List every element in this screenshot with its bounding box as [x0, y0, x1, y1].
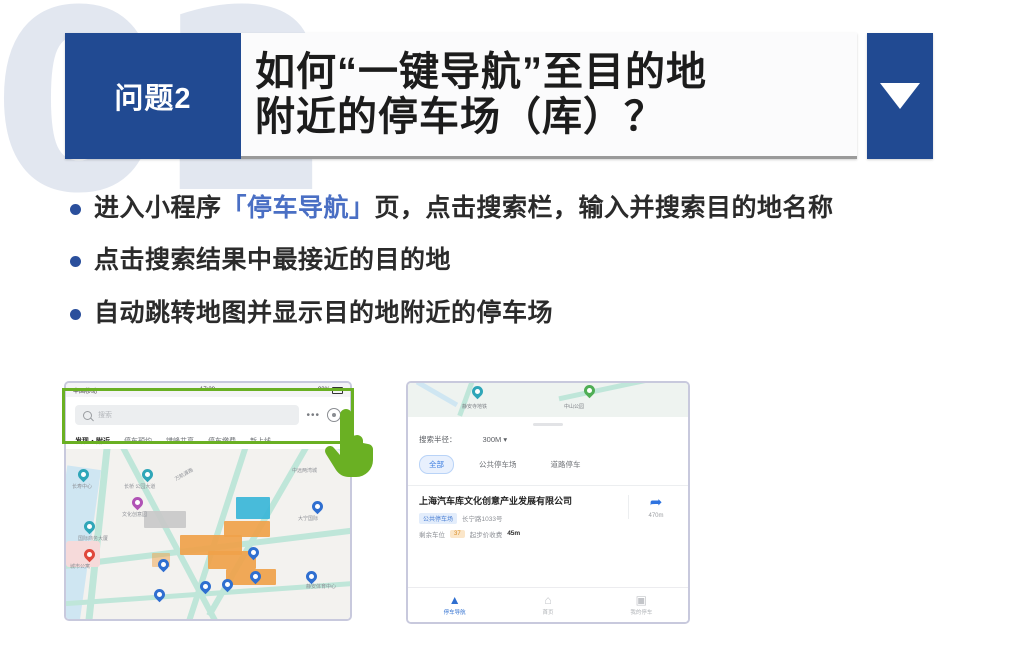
map-label: 中山公园: [564, 403, 584, 410]
parking-nav-icon: ▲: [449, 594, 461, 606]
chevron-down-icon: [880, 83, 920, 109]
navigate-button[interactable]: ➦ 470m: [628, 495, 677, 519]
nav-label: 我的停车: [630, 608, 652, 616]
bullet-dot-icon: [70, 256, 81, 267]
result-meta-row-2: 剩余车位 37 起步价收费 45m: [419, 529, 620, 539]
map-label: 静安体育中心: [306, 583, 336, 590]
nav-item-my-parking[interactable]: ▣ 我的停车: [595, 594, 688, 616]
home-icon: ⌂: [544, 594, 551, 606]
radius-value: 300M: [483, 435, 502, 444]
nav-label: 首页: [542, 608, 553, 616]
result-card-main: 上海汽车库文化创意产业发展有限公司 公共停车场 长宁路1033号 剩余车位 37…: [419, 495, 620, 539]
spaces-label: 剩余车位: [419, 529, 445, 539]
map-label: 中远两湾城: [292, 467, 317, 474]
nav-label: 停车导航: [444, 608, 466, 616]
result-title: 上海汽车库文化创意产业发展有限公司: [419, 495, 620, 508]
my-parking-icon: ▣: [636, 594, 647, 606]
screenshot-right-phone: 静安寺地铁 中山公园 搜索半径： 300M ▾ 全部 公共停车场 道路停车 上海…: [406, 381, 690, 624]
bullet-dot-icon: [70, 204, 81, 215]
chevron-down-icon: ▾: [503, 435, 507, 444]
price-label: 起步价收费: [470, 529, 503, 539]
list-item: 自动跳转地图并显示目的地附近的停车场: [70, 298, 1010, 329]
radius-row: 搜索半径： 300M ▾: [419, 434, 677, 445]
nav-item-parking[interactable]: ▲ 停车导航: [408, 594, 501, 616]
radius-label: 搜索半径：: [419, 434, 457, 445]
map-label: 国际商务大厦: [78, 535, 108, 542]
result-address: 长宁路1033号: [462, 513, 502, 523]
map-pin[interactable]: [130, 495, 146, 511]
list-item: 点击搜索结果中最接近的目的地: [70, 245, 1010, 276]
list-item: 进入小程序「停车导航」页，点击搜索栏，输入并搜索目的地名称: [70, 193, 1010, 224]
chip-street-parking[interactable]: 道路停车: [542, 456, 590, 473]
section-title: 如何“一键导航”至目的地 附近的停车场（库）？: [241, 33, 857, 159]
price-value: 45m: [507, 530, 520, 537]
map-strip[interactable]: 静安寺地铁 中山公园: [408, 383, 688, 417]
slide-canvas: 02 问题2 如何“一键导航”至目的地 附近的停车场（库）？ 进入小程序「停车导…: [0, 0, 1028, 670]
chip-all[interactable]: 全部: [419, 455, 454, 474]
question-tag-label: 问题2: [114, 75, 191, 117]
title-line-2: 附近的停车场（库）？: [255, 95, 857, 140]
map-label: 大宁国际: [298, 515, 318, 522]
bullet-text-post: 页，点击搜索栏，输入并搜索目的地名称: [375, 194, 834, 222]
bullet-dot-icon: [70, 309, 81, 320]
map-label: 文化创意园: [122, 511, 147, 518]
map-pin[interactable]: [304, 569, 320, 585]
map-label: 静安寺地铁: [462, 403, 487, 410]
bullet-list: 进入小程序「停车导航」页，点击搜索栏，输入并搜索目的地名称 点击搜索结果中最接近…: [70, 193, 1010, 350]
map-road: [558, 383, 647, 401]
panel-grabber[interactable]: [533, 423, 563, 426]
map-block: [236, 497, 270, 519]
radius-selector[interactable]: 300M ▾: [483, 435, 508, 444]
map-label: 长寿中心: [72, 483, 92, 490]
result-card[interactable]: 上海汽车库文化创意产业发展有限公司 公共停车场 长宁路1033号 剩余车位 37…: [419, 495, 677, 539]
results-panel: 搜索半径： 300M ▾ 全部 公共停车场 道路停车 上海汽车库文化创意产业发展…: [408, 423, 688, 539]
nav-item-home[interactable]: ⌂ 首页: [501, 594, 594, 616]
bullet-text-pre: 点击搜索结果中最接近的目的地: [94, 246, 451, 274]
map-label: 长桥 公园大道: [124, 483, 155, 490]
bullet-text-highlight: 「停车导航」: [222, 194, 375, 222]
navigate-arrow-icon: ➦: [650, 495, 663, 510]
divider: [408, 485, 688, 486]
map-label: 城市公寓: [70, 563, 90, 570]
map-label: 万航渡路: [174, 466, 195, 482]
search-bar-highlight-box: [62, 388, 354, 444]
result-distance: 470m: [648, 513, 663, 519]
bullet-text: 点击搜索结果中最接近的目的地: [94, 245, 451, 276]
bullet-text: 自动跳转地图并显示目的地附近的停车场: [94, 298, 553, 329]
bullet-text: 进入小程序「停车导航」页，点击搜索栏，输入并搜索目的地名称: [94, 193, 834, 224]
title-line-1: 如何“一键导航”至目的地: [255, 50, 857, 95]
result-type-badge: 公共停车场: [419, 513, 457, 524]
filter-chips: 全部 公共停车场 道路停车: [419, 455, 677, 474]
hand-cursor-icon: [320, 404, 376, 478]
map-view[interactable]: 长寿中心 长桥 公园大道 文化创意园 国际商务大厦 城市公寓 中远两湾城 大宁国…: [66, 449, 350, 619]
bullet-text-pre: 进入小程序: [94, 194, 222, 222]
result-meta-row-1: 公共停车场 长宁路1033号: [419, 513, 620, 524]
bottom-nav: ▲ 停车导航 ⌂ 首页 ▣ 我的停车: [408, 587, 688, 622]
map-water: [416, 383, 458, 407]
section-header: 问题2 如何“一键导航”至目的地 附近的停车场（库）？: [65, 33, 933, 159]
spaces-value-badge: 37: [450, 530, 465, 538]
map-block: [144, 511, 186, 528]
chip-public-lot[interactable]: 公共停车场: [470, 456, 526, 473]
question-tag: 问题2: [65, 33, 241, 159]
chevron-down-button[interactable]: [867, 33, 933, 159]
map-pin[interactable]: [310, 499, 326, 515]
bullet-text-pre: 自动跳转地图并显示目的地附近的停车场: [94, 299, 553, 327]
